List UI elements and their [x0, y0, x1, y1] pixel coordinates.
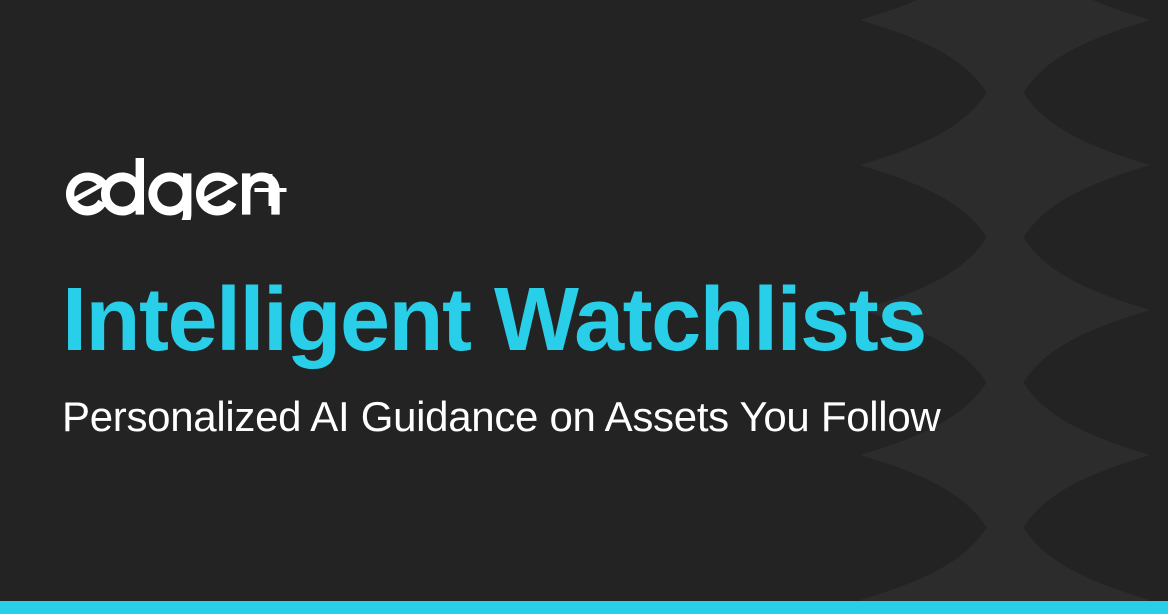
promo-banner: edgen+ Intelligent Watchlists Personaliz…: [0, 0, 1168, 614]
bottom-accent-bar: [0, 601, 1168, 614]
brand-logo: edgen+: [62, 158, 292, 220]
edgen-plus-logo-icon: [62, 158, 292, 220]
banner-content: edgen+ Intelligent Watchlists Personaliz…: [62, 0, 1062, 614]
page-subtitle: Personalized AI Guidance on Assets You F…: [62, 390, 940, 444]
page-title: Intelligent Watchlists: [62, 272, 926, 368]
